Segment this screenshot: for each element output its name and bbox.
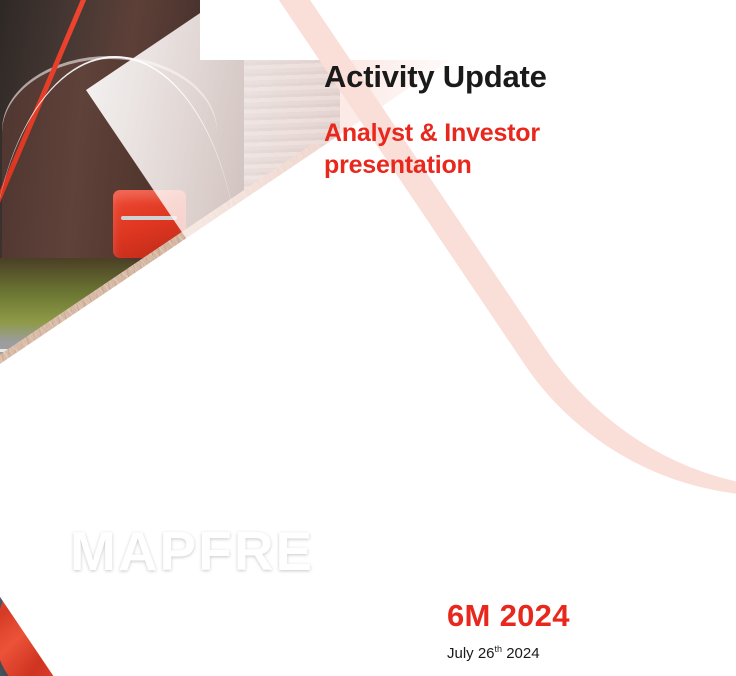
page-title: Activity Update <box>324 59 547 95</box>
page-subtitle-line1: Analyst & Investor <box>324 117 624 149</box>
mapfre-wordmark: MAPFRE <box>70 524 314 579</box>
mapfre-logo: MAPFRE <box>14 524 314 579</box>
date-year: 2024 <box>502 645 540 662</box>
presentation-cover-slide: MAPFRE Activity Update Analyst & Investo… <box>0 0 736 676</box>
presentation-date: July 26th 2024 <box>447 644 540 662</box>
date-prefix: July 26 <box>447 645 495 662</box>
page-subtitle: Analyst & Investor presentation <box>324 117 624 181</box>
page-subtitle-line2: presentation <box>324 149 624 181</box>
reporting-period-label: 6M 2024 <box>447 598 570 634</box>
date-ordinal-suffix: th <box>495 644 503 654</box>
mapfre-tree-circle-icon <box>14 529 60 575</box>
